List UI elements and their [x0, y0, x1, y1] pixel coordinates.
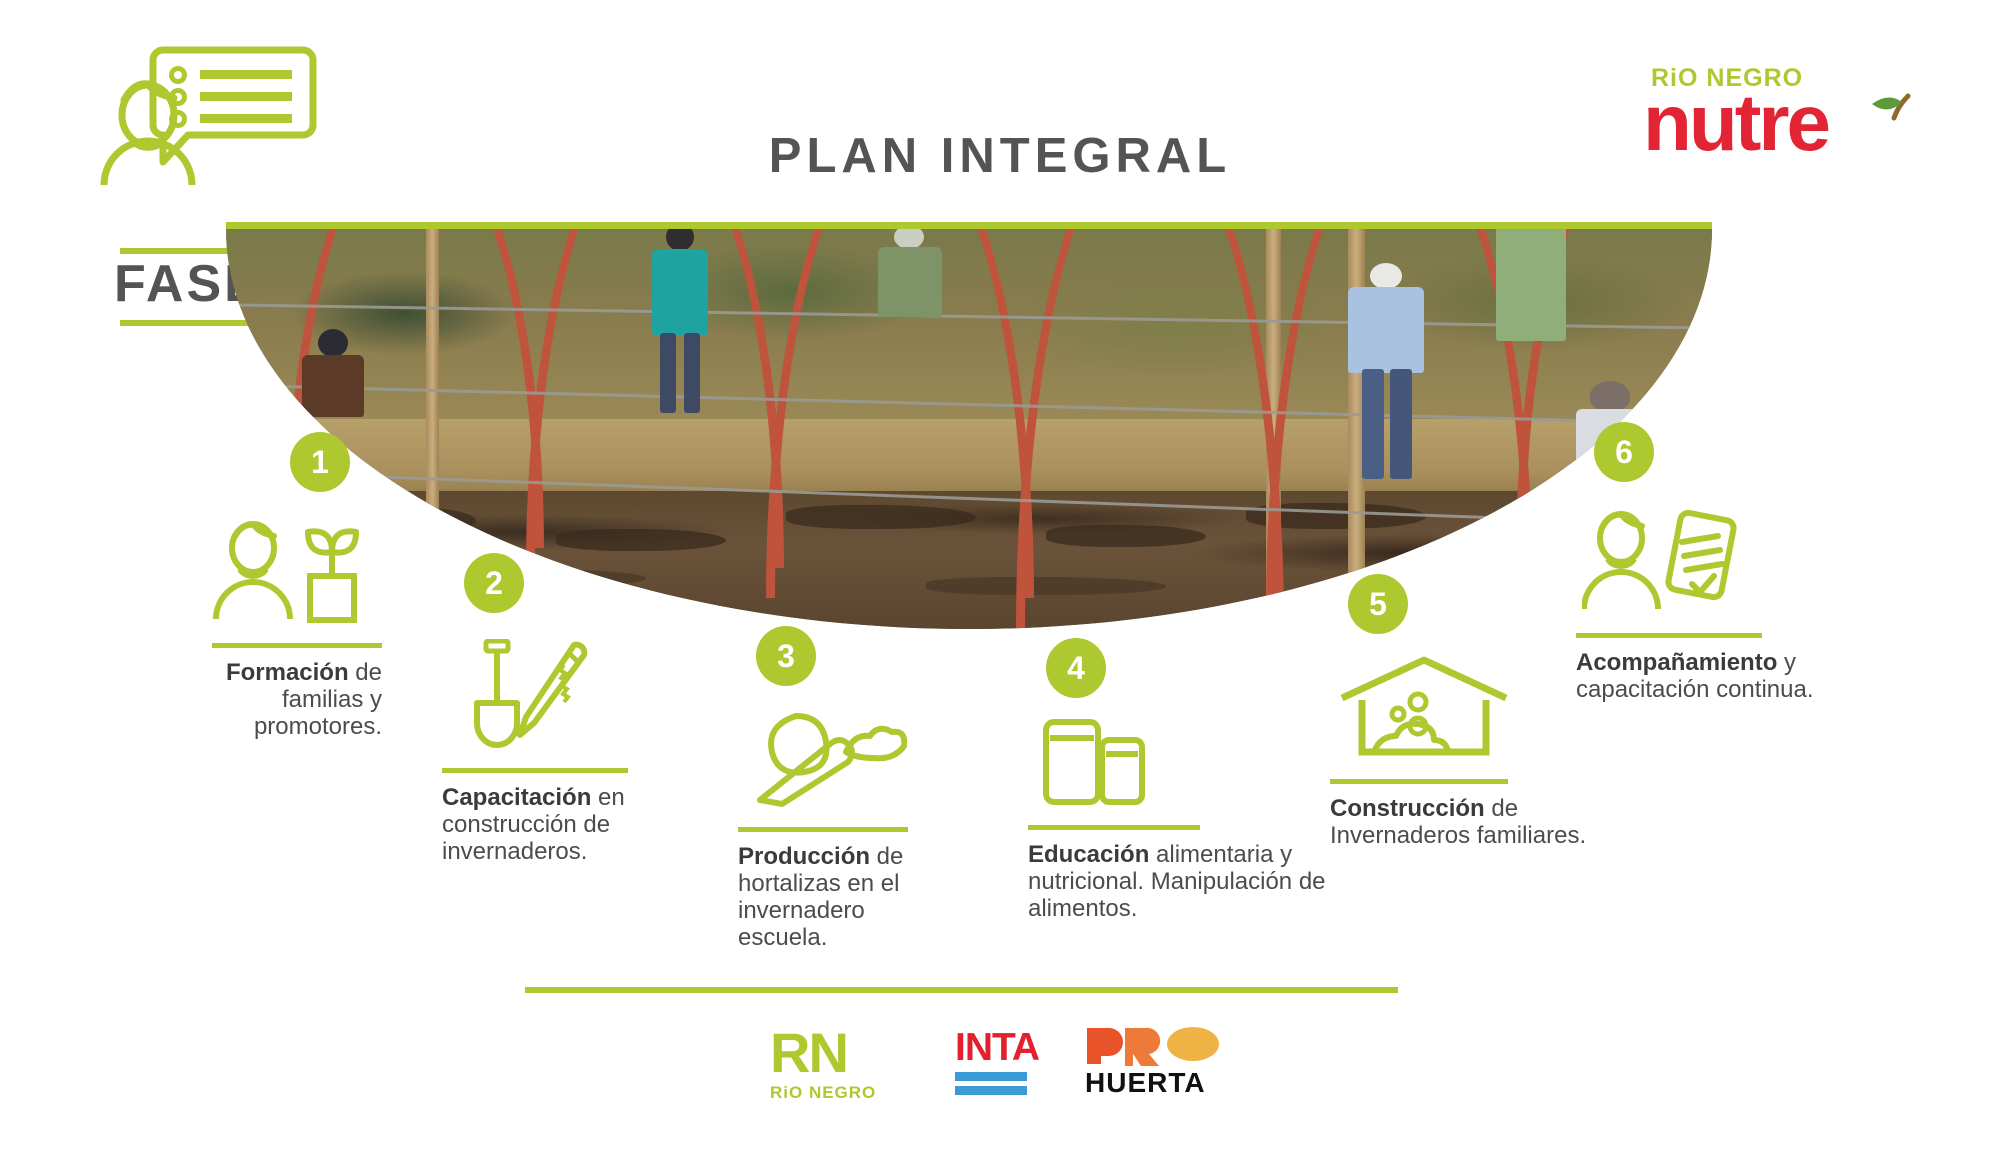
- step-caption-bold: Acompañamiento: [1576, 649, 1777, 676]
- step-2: 2 Capacitación en construcción de invern…: [442, 553, 692, 866]
- step-3: 3 Producción de hortalizas en el inverna…: [738, 626, 988, 952]
- step-caption-bold: Educación: [1028, 841, 1149, 868]
- step-number-badge: 3: [756, 626, 816, 686]
- inta-mark: INTA: [955, 1028, 1027, 1067]
- step-rule: [212, 643, 382, 648]
- step-6: 6 Acompañamiento y capacitación continua…: [1576, 422, 1876, 704]
- pro-huerta-label: HUERTA: [1085, 1067, 1235, 1099]
- step-caption: Construcción de Invernaderos familiares.: [1330, 796, 1650, 850]
- rn-rio-negro-logo: RN RiO NEGRO: [770, 1025, 895, 1103]
- inta-stripe: [955, 1072, 1027, 1081]
- step-4: 4 Educación alimentaria y nutricional. M…: [1028, 638, 1368, 923]
- person-and-checklist-icon: [1582, 504, 1876, 619]
- step-number-badge: 6: [1594, 422, 1654, 482]
- pro-mark-graphic: [1085, 1026, 1235, 1062]
- step-number-badge: 4: [1046, 638, 1106, 698]
- shovel-and-saw-icon: [456, 639, 692, 754]
- step-1: 1 Formación de familias y promotores.: [160, 432, 390, 741]
- footer-divider: [525, 987, 1398, 993]
- brand-line2: nutre: [1643, 83, 1828, 163]
- step-caption: Capacitación en construcción de invernad…: [442, 785, 690, 866]
- rio-negro-nutre-logo: RiO NEGRO nutre: [1643, 66, 1928, 170]
- infographic-canvas: FASES PLAN INTEGRAL RiO NEGRO nutre: [0, 0, 2000, 1166]
- step-caption: Formación de familias y promotores.: [160, 660, 382, 741]
- step-number-badge: 5: [1348, 574, 1408, 634]
- step-caption-bold: Formación: [226, 659, 349, 686]
- step-rule: [738, 827, 908, 832]
- step-rule: [1576, 633, 1762, 638]
- lettuce-and-carrot-icon: [742, 708, 988, 813]
- step-caption: Acompañamiento y capacitación continua.: [1576, 650, 1866, 704]
- step-number-badge: 1: [290, 432, 350, 492]
- step-caption: Educación alimentaria y nutricional. Man…: [1028, 842, 1368, 923]
- step-caption: Producción de hortalizas en el invernade…: [738, 844, 948, 952]
- rn-mark: RN: [770, 1025, 895, 1081]
- pro-huerta-logo: HUERTA: [1085, 1026, 1235, 1099]
- step-caption-bold: Capacitación: [442, 784, 591, 811]
- step-rule: [442, 768, 628, 773]
- inta-logo: INTA: [955, 1028, 1027, 1095]
- food-jars-icon: [1042, 716, 1368, 813]
- apple-with-leaf-icon: [1838, 76, 1934, 177]
- step-caption-bold: Construcción: [1330, 795, 1485, 822]
- step-caption-bold: Producción: [738, 843, 870, 870]
- step-number-badge: 2: [464, 553, 524, 613]
- inta-stripe: [955, 1086, 1027, 1095]
- rn-sublabel: RiO NEGRO: [770, 1083, 895, 1103]
- person-and-potted-plant-icon: [212, 514, 390, 629]
- step-rule: [1028, 825, 1200, 830]
- step-rule: [1330, 779, 1508, 784]
- footer-logos: RN RiO NEGRO INTA HUERTA: [760, 1020, 1180, 1120]
